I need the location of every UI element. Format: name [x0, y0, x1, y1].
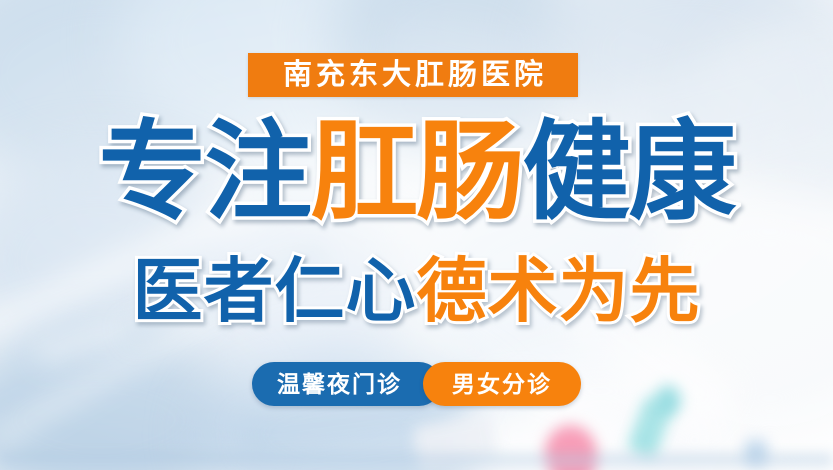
feature-pill-night-clinic[interactable]: 温馨夜门诊 — [252, 362, 441, 406]
subheadline-segment-1: 医者仁心 — [133, 251, 417, 332]
headline: 专注肛肠健康 — [0, 114, 833, 233]
hospital-name-text: 南充东大肛肠医院 — [279, 61, 547, 90]
headline-segment-2: 肛肠 — [310, 114, 522, 233]
feature-pill-gender-triage[interactable]: 男女分诊 — [423, 362, 581, 406]
banner-content: 南充东大肛肠医院 专注肛肠健康 医者仁心德术为先 温馨夜门诊 男女分诊 — [0, 0, 833, 470]
feature-pill-night-clinic-label: 温馨夜门诊 — [277, 373, 402, 396]
feature-pill-gender-triage-label: 男女分诊 — [452, 373, 552, 396]
hospital-promo-banner: 南充东大肛肠医院 专注肛肠健康 医者仁心德术为先 温馨夜门诊 男女分诊 — [0, 0, 833, 470]
subheadline-segment-2: 德术为先 — [417, 251, 701, 332]
subheadline: 医者仁心德术为先 — [0, 251, 833, 332]
headline-segment-3: 健康 — [523, 114, 735, 233]
feature-pill-group: 温馨夜门诊 男女分诊 — [0, 362, 833, 406]
headline-segment-1: 专注 — [98, 114, 310, 233]
hospital-name-tag: 南充东大肛肠医院 — [248, 53, 578, 97]
